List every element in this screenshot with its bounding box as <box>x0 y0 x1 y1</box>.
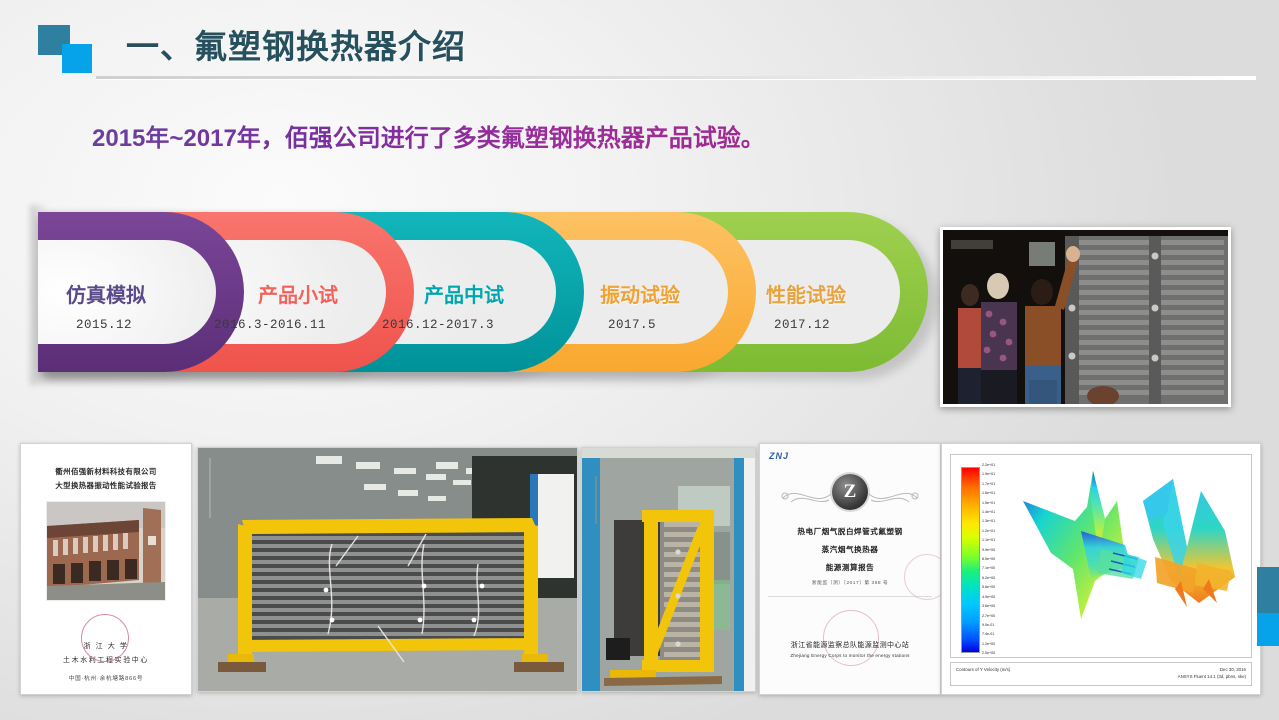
doc4-divider <box>768 596 932 597</box>
stage-date-2: 2016.3-2016.11 <box>214 318 326 332</box>
znj-logo: ZNJ <box>769 451 789 461</box>
process-diagram: 仿真模拟 2015.12 产品小试 2016.3-2016.11 产品中试 20… <box>38 212 938 372</box>
legend-tick: 1.1e+01 <box>982 539 1012 543</box>
thumb-test-rig-photo <box>197 447 578 692</box>
thumb-chamber-photo <box>581 447 756 692</box>
page-title: 一、氟塑钢换热器介绍 <box>126 20 466 68</box>
edge-decoration-dark <box>1257 567 1279 613</box>
legend-tick: 1.4e+01 <box>982 511 1012 515</box>
legend-tick: 1.6e+01 <box>982 492 1012 496</box>
doc-energy-report: ZNJ Z 热电厂烟气脱白焊管式氟塑钢 蒸汽烟气换热器 能源测算报告 浙能监（测… <box>760 444 940 694</box>
legend-tick: 1.3e+01 <box>982 520 1012 524</box>
doc4-doc-number: 浙能监（测）〔2017〕第 368 号 <box>812 579 888 586</box>
doc4-footer: 浙江省能源监察总队能源监测中心站 Zhejiang Energy Corps t… <box>760 640 940 658</box>
doc4-footer-cn: 浙江省能源监察总队能源监测中心站 <box>760 640 940 650</box>
legend-tick: 1.2e+01 <box>982 530 1012 534</box>
subtitle-text: 2015年~2017年，佰强公司进行了多类氟塑钢换热器产品试验。 <box>92 118 765 153</box>
thumb-energy-report: ZNJ Z 热电厂烟气脱白焊管式氟塑钢 蒸汽烟气换热器 能源测算报告 浙能监（测… <box>759 443 941 695</box>
cfd-solver: ANSYS Fluent 14.1 (3d, pbns, ske) <box>1178 674 1246 681</box>
doc1-address: 中国·杭州·余杭塘路866号 <box>69 674 144 682</box>
stage-label-4: 振动试验 <box>600 279 680 308</box>
thumb-cfd-plot: 2.2e+01 1.9e+01 1.7e+01 1.6e+01 1.5e+01 … <box>941 443 1261 695</box>
doc1-building-graphic <box>47 502 165 600</box>
cfd-contour-graphic <box>1021 461 1251 651</box>
cfd-date: Dec 30, 2016 <box>1178 667 1246 674</box>
stage-date-5: 2017.12 <box>774 318 830 332</box>
legend-tick: 5.6e+00 <box>982 586 1012 590</box>
doc1-seal <box>81 614 129 662</box>
doc1-line2: 大型换热器振动性能试验报告 <box>55 480 156 491</box>
legend-tick: 6.2e+00 <box>982 577 1012 581</box>
stage-label-1: 仿真模拟 <box>66 279 146 308</box>
cfd-footer-right: Dec 30, 2016 ANSYS Fluent 14.1 (3d, pbns… <box>1178 667 1246 681</box>
edge-decoration-light <box>1257 613 1279 646</box>
legend-tick: 9.0e-01 <box>982 624 1012 628</box>
doc4-side-seal <box>904 554 941 600</box>
legend-tick: 3.6e+00 <box>982 605 1012 609</box>
doc1-building-photo <box>46 501 166 601</box>
legend-tick: 1.7e+01 <box>982 483 1012 487</box>
legend-tick: 4.9e+00 <box>982 596 1012 600</box>
legend-tick: 1.2e+00 <box>982 643 1012 647</box>
header-divider <box>96 76 1256 79</box>
doc4-line3: 能源测算报告 <box>826 562 875 573</box>
cfd-plot: 2.2e+01 1.9e+01 1.7e+01 1.6e+01 1.5e+01 … <box>942 444 1260 694</box>
cfd-legend-ticks: 2.2e+01 1.9e+01 1.7e+01 1.6e+01 1.5e+01 … <box>982 464 1012 656</box>
thumb-vibration-report: 衢州佰强新材料科技有限公司 大型换热器振动性能试验报告 <box>20 443 192 695</box>
photo-test-rig-graphic <box>198 448 577 691</box>
legend-tick: 1.5e+01 <box>982 502 1012 506</box>
stage-date-4: 2017.5 <box>608 318 656 332</box>
slide-canvas: 一、氟塑钢换热器介绍 2015年~2017年，佰强公司进行了多类氟塑钢换热器产品… <box>0 0 1279 720</box>
cfd-plot-area: 2.2e+01 1.9e+01 1.7e+01 1.6e+01 1.5e+01 … <box>950 454 1252 658</box>
legend-tick: 2.0e+00 <box>982 652 1012 656</box>
legend-tick: 8.5e+00 <box>982 558 1012 562</box>
stage-date-1: 2015.12 <box>76 318 132 332</box>
cfd-footer: Contours of Y Velocity (m/s) Dec 30, 201… <box>950 662 1252 686</box>
stage-label-5: 性能试验 <box>766 279 846 308</box>
cfd-colorbar <box>961 467 980 653</box>
doc1-line1: 衢州佰强新材料科技有限公司 <box>55 466 156 477</box>
header-square-light <box>62 44 92 73</box>
legend-tick: 1.9e+01 <box>982 473 1012 477</box>
legend-tick: 7.1e+00 <box>982 567 1012 571</box>
legend-tick: 9.9e+00 <box>982 549 1012 553</box>
doc-vibration-report: 衢州佰强新材料科技有限公司 大型换热器振动性能试验报告 <box>21 444 191 694</box>
doc4-line2: 蒸汽烟气换热器 <box>822 544 879 555</box>
photo-inspection <box>940 227 1231 407</box>
photo-chamber-graphic <box>582 448 755 691</box>
legend-tick: 7.4e-01 <box>982 633 1012 637</box>
stage-date-3: 2016.12-2017.3 <box>382 318 494 332</box>
stage-label-3: 产品中试 <box>424 279 504 308</box>
stage-label-2: 产品小试 <box>258 279 338 308</box>
doc4-footer-en: Zhejiang Energy Corps to monitor the ene… <box>760 653 940 658</box>
flourish-ornament <box>775 482 925 508</box>
legend-tick: 2.7e+00 <box>982 615 1012 619</box>
cfd-footer-left: Contours of Y Velocity (m/s) <box>956 667 1010 681</box>
doc4-line1: 热电厂烟气脱白焊管式氟塑钢 <box>797 526 902 537</box>
photo-inspection-graphic <box>943 230 1228 404</box>
legend-tick: 2.2e+01 <box>982 464 1012 468</box>
